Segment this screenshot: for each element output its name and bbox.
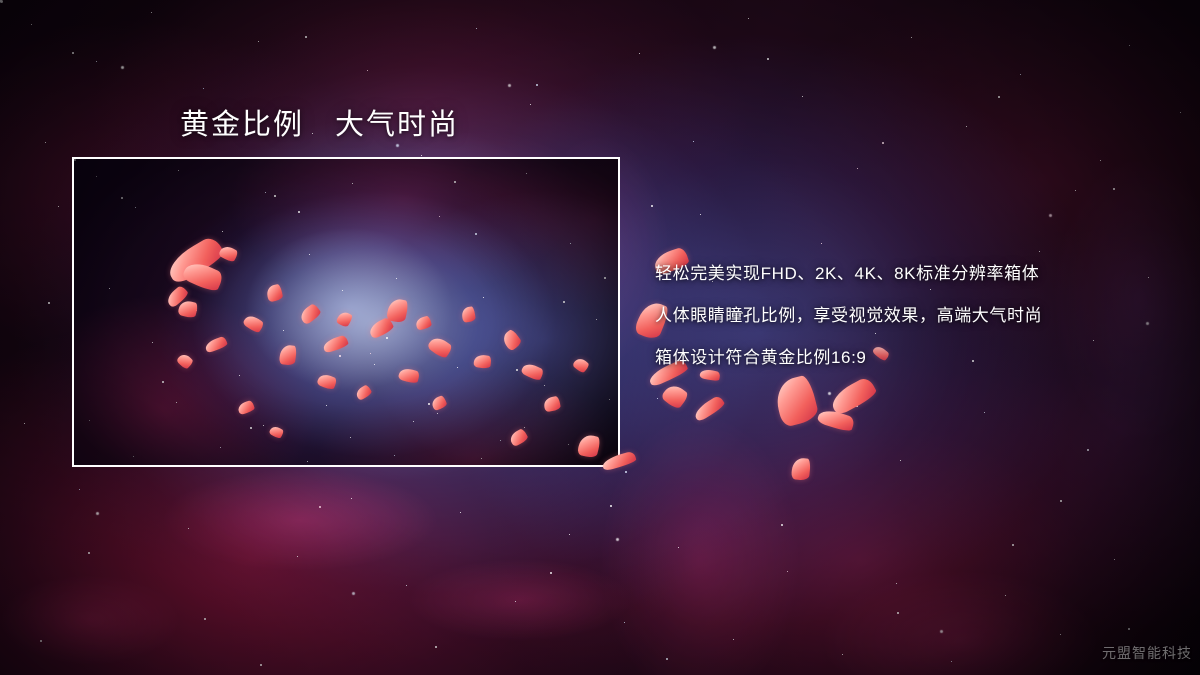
body-text-block: 轻松完美实现FHD、2K、4K、8K标准分辨率箱体 人体眼睛瞳孔比例，享受视觉效… (655, 253, 1175, 379)
petal (791, 457, 811, 481)
petal (461, 306, 476, 323)
page-title: 黄金比例 大气时尚 (180, 101, 459, 143)
watermark: 元盟智能科技 (1102, 643, 1192, 663)
petal (660, 381, 690, 410)
body-line-2: 人体眼睛瞳孔比例，享受视觉效果，高端大气时尚 (655, 295, 1175, 337)
photo-content (74, 159, 618, 465)
nebula-photo-frame (72, 157, 620, 467)
petal (828, 375, 879, 416)
petal (772, 374, 820, 428)
body-line-3: 箱体设计符合黄金比例16:9 (655, 337, 1175, 379)
petal (473, 354, 492, 369)
petal (692, 395, 726, 423)
presentation-slide: 黄金比例 大气时尚 轻松完美实现FHD、2K、4K、8K标准分辨率箱体 人体眼睛… (0, 0, 1200, 675)
body-line-1: 轻松完美实现FHD、2K、4K、8K标准分辨率箱体 (655, 253, 1175, 295)
